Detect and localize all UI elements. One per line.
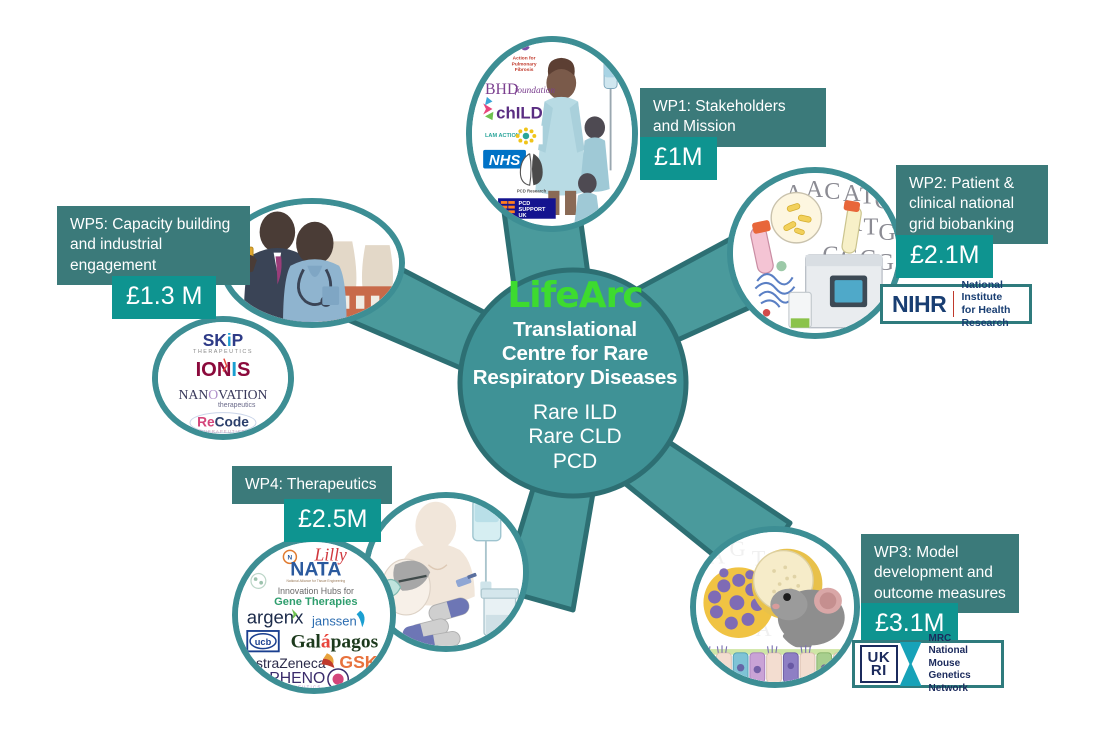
logo-ionis: IONIS [196,359,251,381]
svg-text:National Alliance for Tissue E: National Alliance for Tissue Engineering [287,579,346,583]
wp2-illustration: A A C A T G A T A T G C G C G [733,173,897,333]
svg-text:G: G [729,536,745,561]
wp1-illustration: Action for Pulmonary Fibrosis BHD founda… [472,42,632,224]
svg-text:Galápagos: Galápagos [291,632,379,653]
svg-text:NHS: NHS [489,153,520,169]
wp2-label-line-1: WP2: Patient & [909,174,1036,194]
logo-gsk: GSK [339,652,377,672]
svg-text:UK: UK [519,213,527,219]
svg-text:BHD: BHD [485,81,518,98]
svg-text:Pulmonary: Pulmonary [512,61,537,67]
wp1-logo-lam-action: LAM ACTION [481,126,542,145]
svg-text:THERAPEUTICS: THERAPEUTICS [193,349,253,355]
svg-text:G: G [875,187,893,214]
nihr-strapline-line-2: for Health Research [961,304,1010,329]
svg-text:A: A [709,544,725,569]
wp4-label-line-1: WP4: Therapeutics [245,475,380,495]
svg-text:GSK: GSK [339,652,377,672]
molecule-dot [776,261,786,271]
logo-janssen: janssen [311,611,365,629]
svg-text:janssen: janssen [311,613,357,628]
svg-text:NANOVATION: NANOVATION [179,387,268,402]
wp5-label-line-1: WP5: Capacity building [70,215,238,235]
nihr-strapline: National Institute for Health Research [961,279,1029,329]
infographic-canvas: LifeArc Translational Centre for Rare Re… [0,0,1115,733]
petri-dish-icon [771,193,821,243]
wp5-illustration [225,204,399,326]
specimen-pot-icon [481,589,518,635]
svg-text:PCD: PCD [519,201,531,207]
wp2-label-line-3: grid biobanking [909,215,1036,235]
svg-text:ucb: ucb [255,637,272,647]
molecule-dot [763,309,770,316]
svg-text:AstraZeneca: AstraZeneca [247,655,326,671]
wp3-label-box[interactable]: WP3: Model development and outcome measu… [861,534,1019,613]
svg-text:PCD Research: PCD Research [517,189,547,194]
wp2-amount-box[interactable]: £2.1M [896,235,993,278]
wp5-label-line-3: engagement [70,256,238,276]
svg-text:SKiP: SKiP [203,330,244,350]
wp5-logo-illustration: SKiP THERAPEUTICS IONIS NANOVATION thera… [158,322,288,436]
svg-text:chILD: chILD [496,103,543,122]
svg-text:therapeutics: therapeutics [218,402,256,409]
mrc-line-3: Network [929,683,968,694]
svg-text:IONIS: IONIS [196,359,251,381]
nihr-logo-plaque: NIHR National Institute for Health Resea… [880,284,1032,324]
svg-text:T: T [860,183,875,210]
wp5-partner-logos[interactable]: SKiP THERAPEUTICS IONIS NANOVATION thera… [152,316,294,440]
ukri-mrc-logo-plaque: UK RI MRC National Mouse Genetics Networ… [852,640,1004,688]
svg-text:LAM ACTION: LAM ACTION [485,133,520,139]
wp5-label-box[interactable]: WP5: Capacity building and industrial en… [57,206,250,285]
wp5-amount-box[interactable]: £1.3 M [112,276,216,319]
mrc-line-1: MRC National [929,633,968,657]
logo-astrazeneca: AstraZeneca [247,653,335,671]
wp1-logo-nhs: NHS [483,150,526,169]
wp2-label-box[interactable]: WP2: Patient & clinical national grid bi… [896,165,1048,244]
ukri-chevron-icon [900,642,922,686]
logo-galapagos: Galápagos [291,632,379,653]
svg-text:NATA: NATA [290,558,341,580]
mrc-network-name: MRC National Mouse Genetics Network [922,633,1002,696]
wp2-biobanking-image[interactable]: A A C A T G A T A T G C G C G [727,167,903,339]
svg-text:argenx: argenx [247,607,304,628]
wp3-illustration: AGT ACT A [696,532,854,683]
svg-text:THERAPEUTICS: THERAPEUTICS [200,429,246,434]
wp3-label-line-1: WP3: Model [874,543,1007,563]
wp1-label-line-2: and Mission [653,117,814,137]
wp4-logo-illustration: Lilly N NATA National Alliance for Tissu… [238,542,390,688]
wp4-amount-box[interactable]: £2.5M [284,499,381,542]
mrc-line-2: Mouse Genetics [929,658,971,682]
logo-argenx: argenx [247,607,304,628]
wp5-label-line-2: and industrial [70,235,238,255]
wp3-model-development-image[interactable]: AGT ACT A [690,526,860,688]
wp3-label-line-3: outcome measures [874,584,1007,604]
svg-text:SUPPORT: SUPPORT [519,207,547,213]
ukri-wordmark: UK RI [860,645,898,683]
svg-text:ReCode: ReCode [197,414,249,429]
wp2-label-line-2: clinical national [909,194,1036,214]
svg-text:G: G [878,219,896,246]
nihr-wordmark: NIHR [883,291,953,318]
svg-text:Action for: Action for [513,56,536,62]
wp4-partner-logos[interactable]: Lilly N NATA National Alliance for Tissu… [232,536,396,694]
svg-text:C: C [824,178,840,205]
nihr-strapline-line-1: National Institute [961,279,1002,304]
svg-text:Innovation Hubs for: Innovation Hubs for [278,586,354,596]
wp1-label-line-1: WP1: Stakeholders [653,97,814,117]
svg-text:foundation: foundation [515,85,556,96]
svg-text:THERAPEUTICS: THERAPEUTICS [273,684,321,688]
ukri-line-2: RI [871,664,887,677]
nihr-divider [953,291,954,317]
wp1-patient-stakeholders-image[interactable]: Action for Pulmonary Fibrosis BHD founda… [466,36,638,232]
svg-text:T: T [863,213,878,240]
wp1-logo-pcd-support-uk: PCD SUPPORT UK [498,198,556,219]
hub-circle [460,270,686,496]
wp3-label-line-2: development and [874,563,1007,583]
airway-epithelium-icon [696,645,854,682]
wp1-amount-box[interactable]: £1M [640,137,717,180]
svg-text:Fibrosis: Fibrosis [515,67,534,73]
